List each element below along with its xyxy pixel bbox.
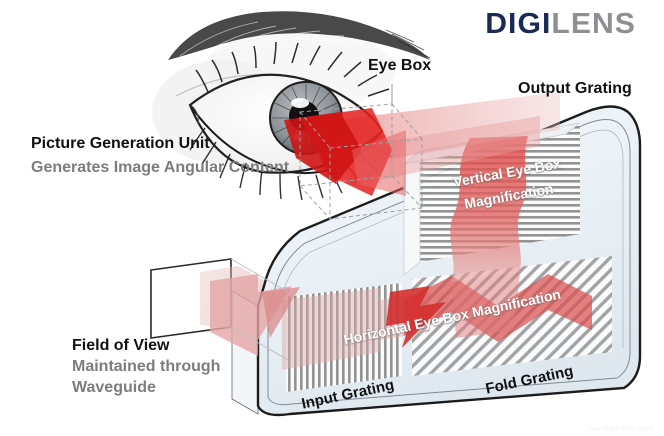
- logo-secondary: LENS: [551, 8, 636, 40]
- label-pgu-title: Picture Generation Unit: [31, 134, 210, 154]
- label-output-grating: Output Grating: [518, 79, 632, 99]
- watermark-text: ww.digilens.com: [589, 424, 654, 433]
- label-eye-box: Eye Box: [368, 56, 431, 76]
- label-fov-title: Field of View: [72, 336, 170, 356]
- label-fov-line3: Waveguide: [72, 378, 156, 398]
- digilens-logo: DIGILENS: [485, 8, 636, 41]
- diagram-canvas: DIGILENS Eye Box Output Grating Picture …: [0, 0, 664, 436]
- label-fov-line2: Maintained through: [72, 357, 220, 377]
- label-pgu-subtitle: Generates Image Angular Content: [31, 158, 289, 178]
- logo-primary: DIGI: [485, 8, 551, 40]
